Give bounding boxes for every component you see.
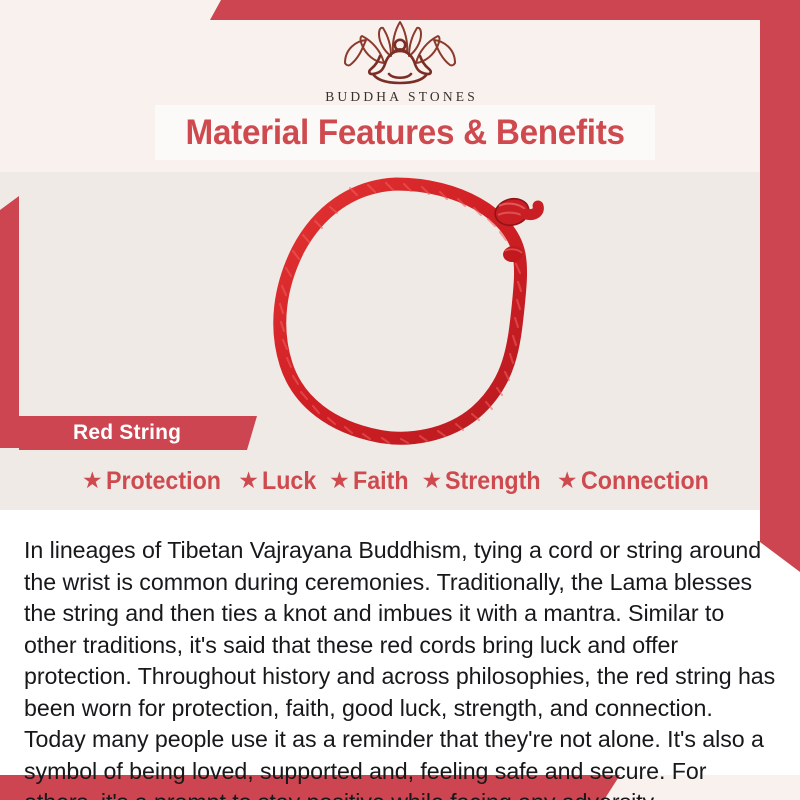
star-icon: ★ [329,469,350,492]
benefit-label: Protection [106,467,221,496]
page-title: Material Features & Benefits [185,113,624,153]
benefit-item-luck: ★ Luck [238,467,320,496]
benefit-item-protection: ★ Protection [82,467,229,496]
benefit-item-faith: ★ Faith [329,467,412,496]
brand-name: BUDDHA STONES [0,89,800,105]
star-icon: ★ [238,469,259,492]
decorative-red-left-strip [0,196,19,448]
star-icon: ★ [422,469,443,492]
decorative-red-top-band [210,0,800,20]
benefit-label: Faith [353,467,409,496]
benefits-list: ★ Protection ★ Luck ★ Faith ★ Strength ★… [20,462,780,500]
page-title-banner: Material Features & Benefits [155,105,655,160]
star-icon: ★ [82,469,103,492]
benefit-item-strength: ★ Strength [422,467,548,496]
benefit-label: Luck [262,467,316,496]
lotus-meditation-logo-icon [325,18,475,86]
infographic-page: BUDDHA STONES Material Features & Benefi… [0,0,800,800]
product-label-banner: Red String [19,416,257,450]
product-image-red-string-bracelet [200,168,600,450]
brand-logo: BUDDHA STONES [0,18,800,105]
benefit-label: Connection [581,467,709,496]
description-text: In lineages of Tibetan Vajrayana Buddhis… [24,535,776,800]
star-icon: ★ [557,469,578,492]
product-label: Red String [73,421,181,445]
benefit-item-connection: ★ Connection [557,467,718,496]
benefit-label: Strength [445,467,541,496]
